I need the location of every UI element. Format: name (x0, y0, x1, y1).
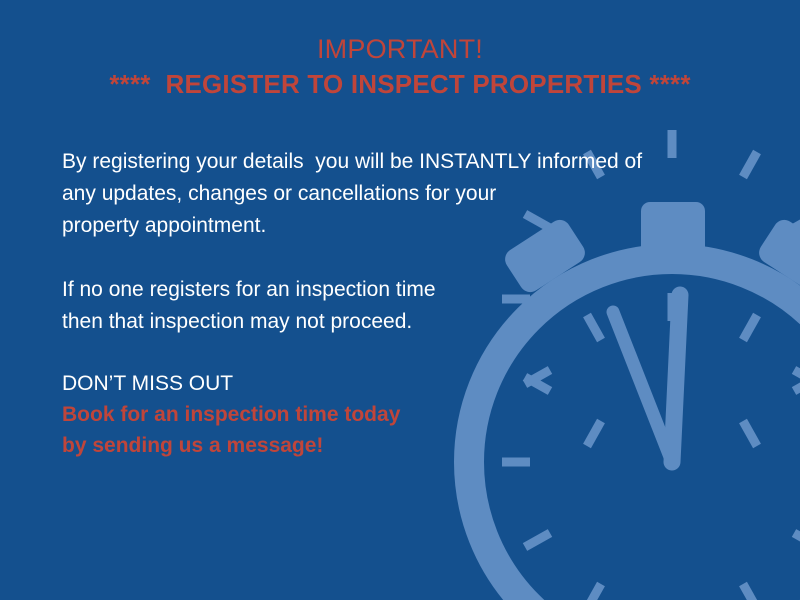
paragraph-spacer-1 (62, 242, 722, 274)
promotional-slide: IMPORTANT! **** REGISTER TO INSPECT PROP… (0, 0, 800, 600)
body-paragraph-1-line-1: By registering your details you will be … (62, 146, 722, 178)
cta-send-message: by sending us a message! (62, 430, 722, 461)
body-block: By registering your details you will be … (62, 146, 722, 461)
cta-dont-miss-out: DON’T MISS OUT (62, 368, 722, 399)
headline-register: **** REGISTER TO INSPECT PROPERTIES **** (0, 66, 800, 102)
paragraph-spacer-2 (62, 338, 722, 368)
body-paragraph-2-line-2: then that inspection may not proceed. (62, 306, 722, 338)
headline-block: IMPORTANT! **** REGISTER TO INSPECT PROP… (0, 32, 800, 102)
headline-important: IMPORTANT! (0, 32, 800, 66)
text-layer: IMPORTANT! **** REGISTER TO INSPECT PROP… (0, 0, 800, 600)
body-paragraph-1-line-3: property appointment. (62, 210, 722, 242)
cta-book-inspection: Book for an inspection time today (62, 399, 722, 430)
body-paragraph-2-line-1: If no one registers for an inspection ti… (62, 274, 722, 306)
body-paragraph-1-line-2: any updates, changes or cancellations fo… (62, 178, 722, 210)
